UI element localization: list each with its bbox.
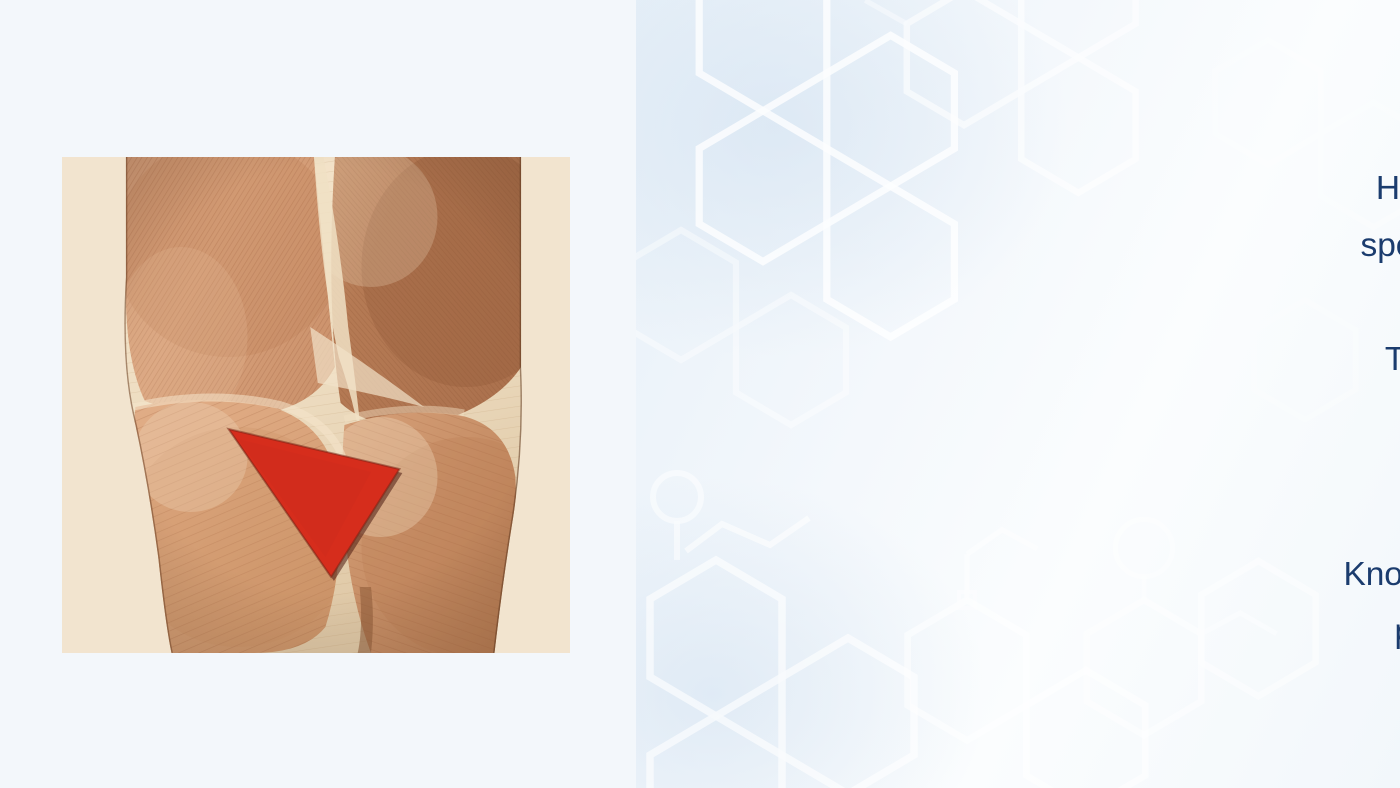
intro-paragraph: Have you ever had a patient point to a s… xyxy=(1296,160,1400,445)
right-panel: Have you ever had a patient point to a s… xyxy=(636,0,1400,788)
hexagon-molecule-background xyxy=(636,0,1400,788)
intro-line-2: specific spot in their lower back and sa… xyxy=(1296,217,1400,274)
intro-line-3: “It hurts right here”? xyxy=(1296,274,1400,331)
intro-line-5: triangle. xyxy=(1296,388,1400,445)
takeaway-paragraph: Knowing terms like this helps you descri… xyxy=(1296,546,1400,660)
anatomy-illustration xyxy=(62,157,570,653)
slide-canvas: Have you ever had a patient point to a s… xyxy=(0,0,1400,788)
anatomy-illustration-svg xyxy=(62,157,570,653)
takeaway-line-2: pain more clearly in clinical English. xyxy=(1296,603,1400,660)
intro-line-1: Have you ever had a patient point to a xyxy=(1296,160,1400,217)
takeaway-line-1: Knowing terms like this helps you descri… xyxy=(1296,546,1400,603)
left-panel xyxy=(0,0,636,788)
intro-line-4: That area has a name — the lumbar xyxy=(1296,331,1400,388)
text-column: Have you ever had a patient point to a s… xyxy=(1296,0,1400,788)
intro-line-4-prefix: That area has a name — the xyxy=(1385,341,1400,378)
